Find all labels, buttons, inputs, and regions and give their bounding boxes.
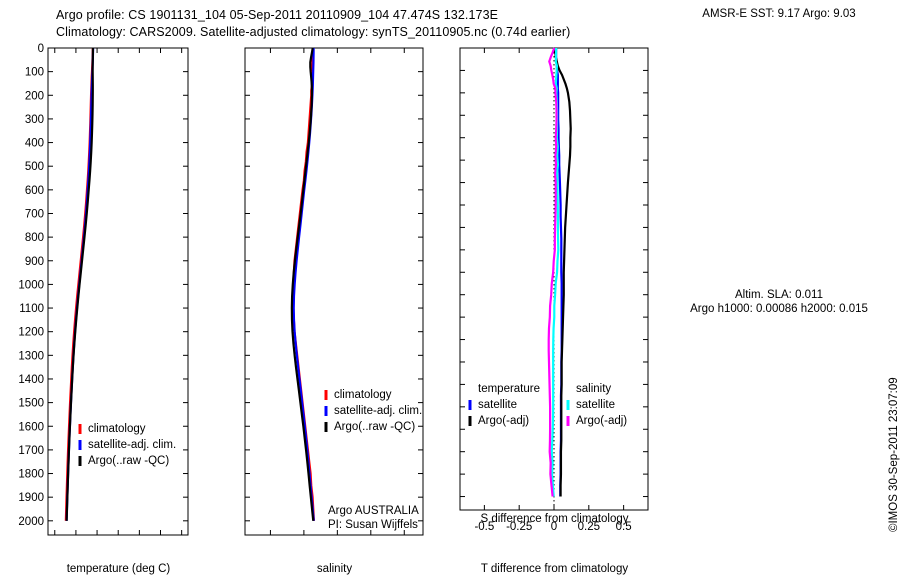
t-difference-axis-label: T difference from climatology (460, 563, 649, 575)
salinity-profile-panel: 3434.53535.536climatologysatellite-adj. … (230, 40, 440, 540)
depth-tick-label: 800 (25, 232, 44, 244)
legend-group-heading: salinity (576, 383, 611, 395)
depth-tick-label: 1800 (18, 469, 44, 481)
depth-tick-label: 1300 (18, 350, 44, 362)
legend-label: satellite (478, 399, 517, 411)
depth-tick-label: 200 (25, 90, 44, 102)
sla-map-panel (640, 320, 900, 575)
sla-map-title-line1: Altim. SLA: 0.011 (673, 289, 885, 301)
legend-group-heading: temperature (478, 383, 540, 395)
depth-tick-label: 1200 (18, 327, 44, 339)
temperature-profile-panel: 0100200300400500600700800900100011001200… (0, 40, 200, 540)
legend-label: climatology (334, 389, 392, 401)
imos-credit-text: ©IMOS 30-Sep-2011 23:07:09 (888, 377, 900, 532)
legend-label: Argo(..raw -QC) (334, 421, 415, 433)
depth-tick-label: 400 (25, 138, 44, 150)
sla-map-title-line2: Argo h1000: 0.00086 h2000: 0.015 (658, 303, 900, 315)
depth-tick-label: 1100 (19, 303, 44, 315)
legend-label: satellite (576, 399, 615, 411)
temperature-plot[interactable]: 0100200300400500600700800900100011001200… (0, 40, 200, 540)
depth-tick-label: 2000 (18, 516, 44, 528)
temperature-axis-label: temperature (deg C) (48, 563, 189, 575)
sst-map-title: AMSR-E SST: 9.17 Argo: 9.03 (673, 8, 885, 20)
imos-credit: ©IMOS 30-Sep-2011 23:07:09 (888, 532, 900, 544)
legend-label: Argo(-adj) (478, 415, 529, 427)
depth-tick-label: 600 (25, 185, 44, 197)
depth-tick-label: 1000 (18, 279, 44, 291)
page-title-line1: Argo profile: CS 1901131_104 05-Sep-2011… (56, 8, 498, 22)
depth-tick-label: 1700 (18, 445, 44, 457)
argo-australia-note: Argo AUSTRALIA (328, 505, 419, 517)
legend-label: Argo(-adj) (576, 415, 627, 427)
depth-tick-label: 700 (25, 208, 44, 220)
legend-label: satellite-adj. clim. (88, 439, 176, 451)
depth-tick-label: 300 (25, 114, 44, 126)
depth-tick-label: 1600 (18, 421, 44, 433)
salinity-axes-frame (245, 48, 423, 535)
sst-map[interactable] (640, 25, 900, 285)
s-difference-axis-label: S difference from climatology (460, 513, 649, 525)
legend-label: climatology (88, 423, 146, 435)
depth-tick-label: 500 (25, 161, 44, 173)
salinity-axis-label: salinity (245, 563, 424, 575)
depth-tick-label: 1500 (18, 398, 44, 410)
depth-tick-label: 0 (38, 43, 44, 55)
difference-plot[interactable]: -2-1012-0.5-0.2500.250.5temperaturesalin… (448, 40, 660, 540)
legend-label: Argo(..raw -QC) (88, 455, 169, 467)
legend-label: satellite-adj. clim. (334, 405, 422, 417)
salinity-plot[interactable]: 3434.53535.536climatologysatellite-adj. … (230, 40, 440, 540)
depth-tick-label: 100 (25, 67, 44, 79)
depth-tick-label: 900 (25, 256, 44, 268)
difference-profile-panel: -2-1012-0.5-0.2500.250.5temperaturesalin… (448, 40, 660, 540)
page-title-line2: Climatology: CARS2009. Satellite-adjuste… (56, 25, 570, 39)
sla-map[interactable] (640, 320, 900, 575)
depth-tick-label: 1400 (18, 374, 44, 386)
sst-map-panel (640, 25, 900, 285)
depth-tick-label: 1900 (18, 492, 44, 504)
argo-pi-note: PI: Susan Wijffels (328, 519, 418, 531)
